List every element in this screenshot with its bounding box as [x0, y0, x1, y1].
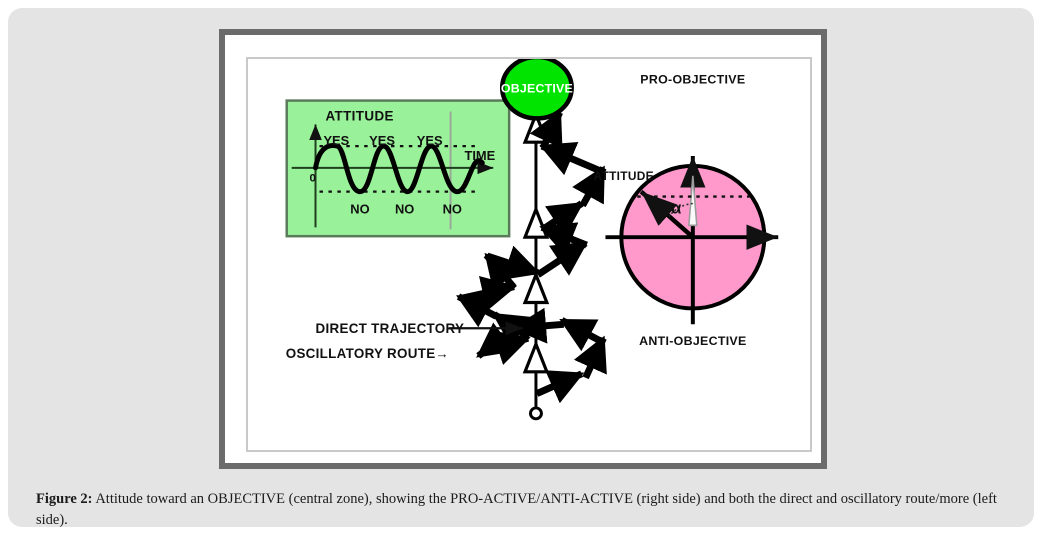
inset-yes-label-3: YES: [417, 133, 443, 148]
angle-alpha-label: α: [671, 198, 682, 217]
inset-yes-label-2: YES: [369, 133, 395, 148]
inset-x-axis-label: TIME: [464, 148, 495, 163]
inset-attitude-chart: ATTITUDE TIME 0 YES YES YES NO NO NO: [287, 101, 509, 237]
inset-yes-label-1: YES: [323, 133, 349, 148]
inset-no-label-3: NO: [443, 201, 462, 216]
circle-top-label: PRO-OBJECTIVE: [640, 73, 745, 87]
attitude-circle-diagram: PRO-OBJECTIVE ANTI-OBJECTIVE ATTITUDE α: [594, 73, 779, 348]
inset-y-axis-label: ATTITUDE: [325, 108, 393, 123]
inset-origin-label: 0: [310, 173, 316, 185]
direct-trajectory-head-3: [525, 275, 547, 303]
inset-no-label-1: NO: [350, 201, 369, 216]
caption-text: Attitude toward an OBJECTIVE (central zo…: [36, 491, 997, 528]
direct-trajectory-head-2: [525, 209, 547, 237]
figure-inner-frame: ATTITUDE TIME 0 YES YES YES NO NO NO: [246, 57, 812, 452]
attitude-vector-label: ATTITUDE: [594, 169, 654, 183]
inset-no-label-2: NO: [395, 201, 414, 216]
objective-label: OBJECTIVE: [501, 82, 573, 96]
figure-illustration: ATTITUDE TIME 0 YES YES YES NO NO NO: [248, 59, 810, 450]
figure-frame: ATTITUDE TIME 0 YES YES YES NO NO NO: [219, 29, 827, 469]
caption-label: Figure 2:: [36, 491, 93, 507]
direct-trajectory-head-4: [525, 344, 547, 372]
page-panel: ATTITUDE TIME 0 YES YES YES NO NO NO: [8, 8, 1034, 527]
circle-bottom-label: ANTI-OBJECTIVE: [639, 334, 746, 348]
oscillatory-route-label: OSCILLATORY ROUTE→: [286, 346, 449, 361]
figure-caption: Figure 2: Attitude toward an OBJECTIVE (…: [36, 489, 1021, 531]
direct-trajectory-label: DIRECT TRAJECTORY: [316, 321, 465, 336]
objective-node[interactable]: OBJECTIVE: [501, 59, 573, 118]
trajectory-origin-point: [530, 408, 541, 419]
